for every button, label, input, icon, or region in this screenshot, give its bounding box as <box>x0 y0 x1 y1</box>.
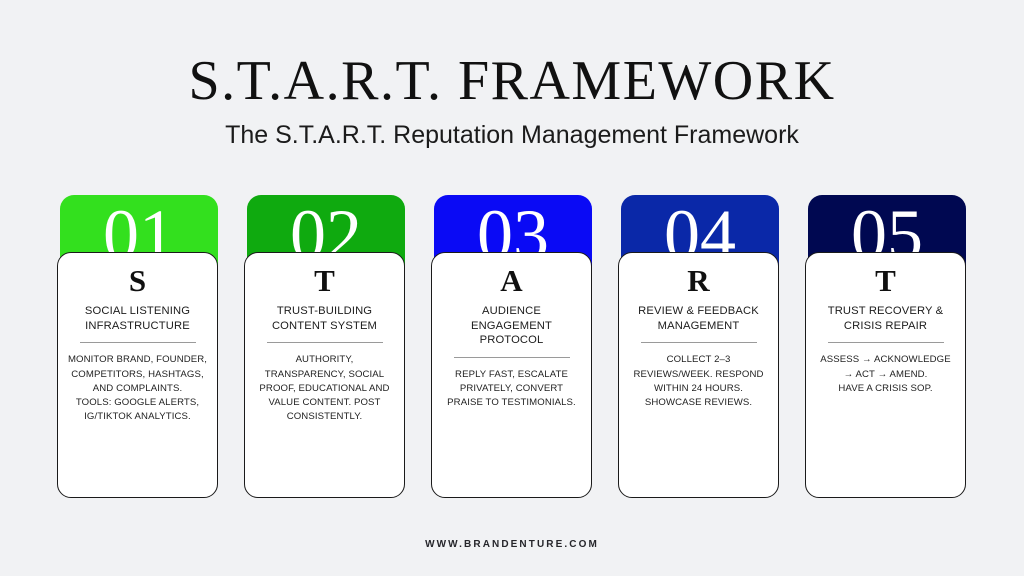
footer-website: WWW.BRANDENTURE.COM <box>0 539 1024 550</box>
card-divider <box>454 357 570 358</box>
step-card-01[interactable]: 01 S SOCIAL LISTENING INFRASTRUCTURE MON… <box>57 195 218 498</box>
step-title: AUDIENCE ENGAGEMENT PROTOCOL <box>441 304 582 348</box>
step-card-04[interactable]: 04 R REVIEW & FEEDBACK MANAGEMENT COLLEC… <box>618 195 779 498</box>
step-letter: T <box>875 261 896 301</box>
step-title: TRUST RECOVERY & CRISIS REPAIR <box>815 304 956 333</box>
step-letter: A <box>500 261 522 301</box>
header: S.T.A.R.T. FRAMEWORK The S.T.A.R.T. Repu… <box>0 50 1024 150</box>
step-card-body[interactable]: R REVIEW & FEEDBACK MANAGEMENT COLLECT 2… <box>618 252 779 498</box>
step-card-03[interactable]: 03 A AUDIENCE ENGAGEMENT PROTOCOL REPLY … <box>431 195 592 498</box>
step-description: COLLECT 2–3 REVIEWS/WEEK. RESPOND WITHIN… <box>628 353 769 410</box>
step-card-body[interactable]: A AUDIENCE ENGAGEMENT PROTOCOL REPLY FAS… <box>431 252 592 498</box>
step-title: SOCIAL LISTENING INFRASTRUCTURE <box>67 304 208 333</box>
step-description: MONITOR BRAND, FOUNDER, COMPETITORS, HAS… <box>67 353 208 424</box>
step-card-body[interactable]: T TRUST RECOVERY & CRISIS REPAIR ASSESS … <box>805 252 966 498</box>
step-card-05[interactable]: 05 T TRUST RECOVERY & CRISIS REPAIR ASSE… <box>805 195 966 498</box>
card-divider <box>267 342 383 343</box>
step-description: ASSESS → ACKNOWLEDGE → ACT → AMEND. HAVE… <box>815 353 956 396</box>
step-card-body[interactable]: S SOCIAL LISTENING INFRASTRUCTURE MONITO… <box>57 252 218 498</box>
slide-canvas: S.T.A.R.T. FRAMEWORK The S.T.A.R.T. Repu… <box>0 0 1024 576</box>
step-letter: S <box>129 261 146 301</box>
step-title: REVIEW & FEEDBACK MANAGEMENT <box>628 304 769 333</box>
step-description: AUTHORITY, TRANSPARENCY, SOCIAL PROOF, E… <box>254 353 395 424</box>
step-letter: R <box>687 261 709 301</box>
step-description: REPLY FAST, ESCALATE PRIVATELY, CONVERT … <box>441 368 582 411</box>
steps-row: 01 S SOCIAL LISTENING INFRASTRUCTURE MON… <box>57 195 967 500</box>
page-title: S.T.A.R.T. FRAMEWORK <box>0 50 1024 112</box>
card-divider <box>641 342 757 343</box>
step-card-body[interactable]: T TRUST-BUILDING CONTENT SYSTEM AUTHORIT… <box>244 252 405 498</box>
card-divider <box>828 342 944 343</box>
step-card-02[interactable]: 02 T TRUST-BUILDING CONTENT SYSTEM AUTHO… <box>244 195 405 498</box>
card-divider <box>80 342 196 343</box>
step-title: TRUST-BUILDING CONTENT SYSTEM <box>254 304 395 333</box>
step-letter: T <box>314 261 335 301</box>
page-subtitle: The S.T.A.R.T. Reputation Management Fra… <box>0 120 1024 150</box>
